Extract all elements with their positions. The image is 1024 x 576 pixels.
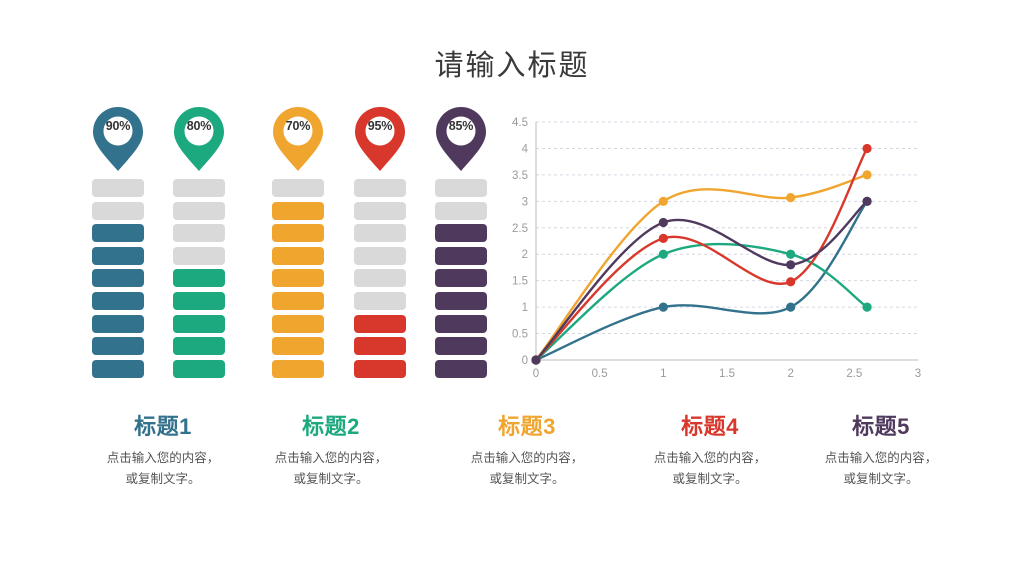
caption-body-line-1: 点击输入您的内容，: [236, 448, 426, 469]
segment-empty: [435, 202, 487, 220]
caption-title: 标题4: [615, 412, 805, 442]
data-point-marker: [659, 197, 668, 206]
caption-body: 点击输入您的内容，或复制文字。: [432, 448, 622, 490]
segment-empty: [354, 202, 406, 220]
x-tick-label: 3: [915, 368, 921, 380]
map-marker-icon: 95%: [352, 105, 408, 173]
caption-body: 点击输入您的内容，或复制文字。: [236, 448, 426, 490]
segment-empty: [354, 224, 406, 242]
pin-value-label: 80%: [171, 119, 227, 133]
pin-column-5: 85%: [431, 105, 491, 378]
segment-filled: [435, 292, 487, 310]
segment-filled: [173, 292, 225, 310]
x-tick-label: 0: [533, 368, 539, 380]
segment-filled: [435, 269, 487, 287]
y-tick-label: 2: [522, 249, 528, 261]
caption-block-1: 标题1点击输入您的内容，或复制文字。: [68, 412, 258, 490]
caption-row: 标题1点击输入您的内容，或复制文字。标题2点击输入您的内容，或复制文字。标题3点…: [0, 412, 1024, 522]
segment-filled: [173, 315, 225, 333]
pin-column-3: 70%: [268, 105, 328, 378]
pin-column-4: 95%: [350, 105, 410, 378]
caption-body-line-1: 点击输入您的内容，: [786, 448, 976, 469]
segment-empty: [173, 247, 225, 265]
caption-block-5: 标题5点击输入您的内容，或复制文字。: [786, 412, 976, 490]
y-tick-label: 2.5: [512, 223, 528, 235]
map-marker-icon: 70%: [270, 105, 326, 173]
data-point-marker: [862, 303, 871, 312]
segment-filled: [92, 224, 144, 242]
data-point-marker: [786, 303, 795, 312]
segment-bar-stack: [354, 179, 406, 378]
segment-filled: [272, 360, 324, 378]
y-tick-label: 0: [522, 355, 528, 367]
segment-bar-stack: [272, 179, 324, 378]
segment-filled: [92, 292, 144, 310]
pin-column-2: 80%: [169, 105, 229, 378]
segment-empty: [92, 179, 144, 197]
data-point-marker: [862, 144, 871, 153]
data-point-marker: [786, 250, 795, 259]
pin-column-1: 90%: [88, 105, 148, 378]
y-tick-label: 1.5: [512, 276, 528, 288]
y-tick-label: 4: [522, 143, 529, 155]
caption-body: 点击输入您的内容，或复制文字。: [615, 448, 805, 490]
caption-block-2: 标题2点击输入您的内容，或复制文字。: [236, 412, 426, 490]
data-point-marker: [659, 234, 668, 243]
caption-body: 点击输入您的内容，或复制文字。: [68, 448, 258, 490]
data-point-marker: [786, 193, 795, 202]
pin-bar-infographic: 90%80%70%95%85%: [70, 105, 470, 395]
pin-value-label: 90%: [90, 119, 146, 133]
segment-filled: [272, 337, 324, 355]
segment-filled: [272, 269, 324, 287]
caption-body-line-2: 或复制文字。: [68, 469, 258, 490]
data-point-marker: [659, 218, 668, 227]
caption-body-line-1: 点击输入您的内容，: [68, 448, 258, 469]
data-point-marker: [659, 250, 668, 259]
segment-filled: [354, 315, 406, 333]
map-marker-icon: 90%: [90, 105, 146, 173]
segment-filled: [435, 360, 487, 378]
caption-body-line-1: 点击输入您的内容，: [615, 448, 805, 469]
segment-filled: [435, 315, 487, 333]
segment-filled: [435, 337, 487, 355]
caption-title: 标题1: [68, 412, 258, 442]
caption-body-line-2: 或复制文字。: [236, 469, 426, 490]
segment-filled: [435, 224, 487, 242]
line-chart: 00.511.522.533.544.500.511.522.53: [492, 112, 932, 392]
segment-filled: [173, 360, 225, 378]
segment-filled: [272, 292, 324, 310]
x-tick-label: 0.5: [592, 368, 608, 380]
segment-empty: [354, 269, 406, 287]
pin-value-label: 95%: [352, 119, 408, 133]
segment-filled: [173, 337, 225, 355]
segment-empty: [173, 224, 225, 242]
caption-body-line-1: 点击输入您的内容，: [432, 448, 622, 469]
caption-block-4: 标题4点击输入您的内容，或复制文字。: [615, 412, 805, 490]
segment-empty: [173, 179, 225, 197]
segment-filled: [272, 315, 324, 333]
caption-body-line-2: 或复制文字。: [432, 469, 622, 490]
segment-empty: [354, 179, 406, 197]
segment-filled: [173, 269, 225, 287]
pin-value-label: 70%: [270, 119, 326, 133]
segment-filled: [272, 202, 324, 220]
map-marker-icon: 80%: [171, 105, 227, 173]
x-tick-label: 2: [787, 368, 793, 380]
segment-bar-stack: [173, 179, 225, 378]
x-tick-label: 1.5: [719, 368, 735, 380]
segment-empty: [354, 292, 406, 310]
data-point-marker: [786, 260, 795, 269]
segment-filled: [92, 269, 144, 287]
data-point-marker: [862, 170, 871, 179]
segment-filled: [92, 247, 144, 265]
data-point-marker: [531, 355, 540, 364]
caption-body: 点击输入您的内容，或复制文字。: [786, 448, 976, 490]
segment-filled: [92, 315, 144, 333]
segment-filled: [92, 337, 144, 355]
caption-body-line-2: 或复制文字。: [615, 469, 805, 490]
y-tick-label: 3: [522, 196, 528, 208]
segment-empty: [354, 247, 406, 265]
segment-empty: [92, 202, 144, 220]
pin-value-label: 85%: [433, 119, 489, 133]
segment-filled: [92, 360, 144, 378]
segment-empty: [435, 179, 487, 197]
x-tick-label: 1: [660, 368, 666, 380]
data-point-marker: [786, 277, 795, 286]
y-tick-label: 1: [522, 302, 528, 314]
segment-filled: [272, 224, 324, 242]
y-tick-label: 0.5: [512, 329, 528, 341]
page-title: 请输入标题: [0, 48, 1024, 84]
x-tick-label: 2.5: [846, 368, 862, 380]
y-tick-label: 4.5: [512, 117, 528, 129]
segment-empty: [272, 179, 324, 197]
caption-title: 标题2: [236, 412, 426, 442]
segment-empty: [173, 202, 225, 220]
segment-filled: [354, 360, 406, 378]
caption-title: 标题3: [432, 412, 622, 442]
caption-block-3: 标题3点击输入您的内容，或复制文字。: [432, 412, 622, 490]
data-point-marker: [659, 303, 668, 312]
segment-bar-stack: [92, 179, 144, 378]
data-point-marker: [862, 197, 871, 206]
segment-filled: [354, 337, 406, 355]
map-marker-icon: 85%: [433, 105, 489, 173]
y-tick-label: 3.5: [512, 170, 528, 182]
segment-bar-stack: [435, 179, 487, 378]
caption-title: 标题5: [786, 412, 976, 442]
segment-filled: [272, 247, 324, 265]
segment-filled: [435, 247, 487, 265]
caption-body-line-2: 或复制文字。: [786, 469, 976, 490]
